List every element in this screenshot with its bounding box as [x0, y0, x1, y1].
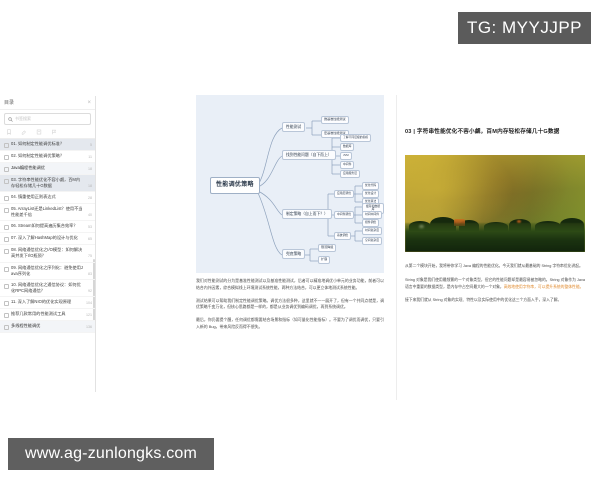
- toc-item-11[interactable]: 10. 网络通信优化之通信协议：如何优化RPC网络通信？92: [0, 280, 95, 297]
- mindmap-leaf-node[interactable]: 优化代码: [362, 182, 379, 190]
- mindmap-leaf-node[interactable]: 微基准性能测试: [321, 116, 349, 124]
- toc-item-label: 推荐几款常用的性能测试工具: [11, 311, 92, 317]
- bookmark-icon[interactable]: [6, 129, 12, 135]
- document-paragraph: 最后，你仍要提个醒，任何调优都需要结合场景和指标（如可量化性能指标）。不要为了调…: [196, 317, 384, 331]
- search-input[interactable]: 书签搜索: [4, 113, 91, 125]
- mindmap-branch-node[interactable]: 制定策略（自上而下？）: [282, 209, 332, 219]
- list-bullet-icon: [4, 301, 9, 306]
- document-page: 性能调优策略 性能测试 微基准性能测试 宏基准性能测试 找到性能问题（自下而上）…: [196, 95, 384, 369]
- note-icon[interactable]: [36, 129, 42, 135]
- mindmap-branch-node[interactable]: 兜底策略: [282, 249, 305, 259]
- highlight-icon[interactable]: [21, 129, 27, 135]
- toc-item-label: 01. 如何制定性能调优标准？: [11, 141, 92, 147]
- article-hero-image: [405, 155, 585, 252]
- toc-item-3[interactable]: Java编程性能调优18: [0, 163, 95, 175]
- mindmap-leaf-node[interactable]: 优化设计: [362, 190, 379, 198]
- document-paragraph: 测试结果可以帮助我们制定性能调优策略。调优方法很多种，这里就不一一展开了，但有一…: [196, 298, 384, 312]
- toc-item-label: 多线程性能调优: [11, 323, 92, 329]
- photo-foreground-ridge: [405, 223, 585, 252]
- toc-item-page-number: 18: [88, 184, 92, 189]
- mindmap-leaf-node[interactable]: 时间中间件: [362, 211, 382, 219]
- toc-item-label: 04. 慎重使用正则表达式: [11, 194, 92, 200]
- mindmap-leaf-node[interactable]: 空间复杂度: [362, 237, 382, 245]
- article-paragraph: String 对象是我们使用最频繁的一个对象类型，但它的性能问题却是最容易被忽略…: [405, 277, 585, 291]
- toc-item-page-number: 28: [88, 196, 92, 201]
- toc-item-page-number: 121: [86, 313, 92, 318]
- toc-item-13[interactable]: 推荐几款常用的性能测试工具121: [0, 309, 95, 321]
- toc-item-9[interactable]: 08. 网络通信优化之I/O模型：如何解决高并发下I/O瓶颈？75: [0, 245, 95, 262]
- mindmap-branch-node[interactable]: 找到性能问题（自下而上）: [282, 150, 336, 160]
- screenshot-root: TG: MYYJJPP 目录 × 书签搜索: [0, 0, 600, 480]
- mindmap-leaf-node[interactable]: 数据库: [340, 143, 354, 151]
- list-bullet-icon: [4, 313, 9, 318]
- close-icon[interactable]: ×: [87, 100, 91, 106]
- document-body: 我们对性能测试的分为是基准性能测试以及基准性能测试，后者可以精准地调优小单元的业…: [196, 278, 384, 337]
- mindmap-branch-node[interactable]: 性能测试: [282, 122, 305, 132]
- toc-item-label: 09. 网络通信优化之序列化：避免使用Java序列化: [11, 265, 92, 277]
- article-highlight-text: 高效地使用字符串，可以提升系统的整体性能。: [504, 285, 584, 289]
- toc-search-wrap: 书签搜索: [0, 110, 95, 127]
- toc-item-page-number: 40: [88, 213, 92, 218]
- toc-item-5[interactable]: 04. 慎重使用正则表达式28: [0, 192, 95, 204]
- toc-item-page-number: 53: [88, 225, 92, 230]
- mindmap-subbranch-node[interactable]: 中间件调优: [334, 211, 354, 219]
- toc-panel: 目录 × 书签搜索: [0, 96, 96, 392]
- toc-item-7[interactable]: 06. Stream如何提高遍历集合效率？53: [0, 221, 95, 233]
- list-bullet-icon: [4, 249, 9, 254]
- toc-item-label: 03. 字符串性能优化不容小觑，百M内存轻松存储几十G数据: [11, 177, 92, 189]
- search-placeholder-text: 书签搜索: [15, 116, 31, 122]
- document-paragraph: 我们对性能测试的分为是基准性能测试以及基准性能测试，后者可以精准地调优小单元的业…: [196, 278, 384, 292]
- toc-item-page-number: 65: [88, 237, 92, 242]
- list-bullet-icon: [4, 325, 9, 330]
- list-bullet-icon: [4, 155, 9, 160]
- article-paragraph: 接下来我们就从 String 对象的实现、特性以及实际使用中的优化这三个方面入手…: [405, 297, 585, 304]
- list-bullet-icon: [4, 208, 9, 213]
- toc-item-12[interactable]: 11. 深入了解NIO的优化实现原理104: [0, 297, 95, 309]
- toc-list[interactable]: 01. 如何制定性能调优标准？502. 如何制定性能调优策略？11Java编程性…: [0, 139, 95, 377]
- site-watermark: www.ag-zunlongks.com: [8, 438, 214, 470]
- mindmap-leaf-node[interactable]: 了解不同层级的指标: [340, 134, 371, 142]
- list-bullet-icon: [4, 179, 9, 184]
- list-bullet-icon: [4, 167, 9, 172]
- toc-item-label: 05. ArrayList还是LinkedList？使用不当性能差千倍: [11, 206, 92, 218]
- toc-item-label: 06. Stream如何提高遍历集合效率？: [11, 223, 92, 229]
- toc-item-page-number: 75: [88, 254, 92, 259]
- search-icon: [8, 117, 13, 122]
- mindmap-leaf-node[interactable]: 中间件: [340, 161, 354, 169]
- toc-item-4[interactable]: 03. 字符串性能优化不容小觑，百M内存轻松存储几十G数据18: [0, 175, 95, 192]
- list-bullet-icon: [4, 284, 9, 289]
- mindmap-subbranch-node[interactable]: 系统调优: [334, 232, 351, 240]
- mindmap-leaf-node[interactable]: 扩容: [318, 256, 330, 264]
- mindmap-leaf-node[interactable]: JVM: [340, 152, 352, 160]
- mindmap-root-node[interactable]: 性能调优策略: [210, 177, 260, 194]
- toc-item-label: 08. 网络通信优化之I/O模型：如何解决高并发下I/O瓶颈？: [11, 247, 92, 259]
- mindmap-leaf-node[interactable]: 限流降级: [318, 244, 336, 252]
- toc-item-label: 10. 网络通信优化之通信协议：如何优化RPC网络通信？: [11, 282, 92, 294]
- toc-item-page-number: 5: [90, 143, 92, 148]
- toc-item-1[interactable]: 01. 如何制定性能调优标准？5: [0, 139, 95, 151]
- toc-item-6[interactable]: 05. ArrayList还是LinkedList？使用不当性能差千倍40: [0, 204, 95, 221]
- toc-item-page-number: 18: [88, 167, 92, 172]
- flag-icon[interactable]: [51, 129, 57, 135]
- list-bullet-icon: [4, 267, 9, 272]
- toc-item-label: Java编程性能调优: [11, 165, 92, 171]
- toc-item-2[interactable]: 02. 如何制定性能调优策略？11: [0, 151, 95, 163]
- toc-item-page-number: 136: [86, 325, 92, 330]
- mindmap-canvas: 性能调优策略 性能测试 微基准性能测试 宏基准性能测试 找到性能问题（自下而上）…: [196, 95, 384, 273]
- toc-item-page-number: 92: [88, 289, 92, 294]
- toc-item-page-number: 11: [88, 155, 92, 160]
- mindmap-leaf-node[interactable]: 应用服务层: [340, 170, 360, 178]
- list-bullet-icon: [4, 143, 9, 148]
- mindmap-leaf-node[interactable]: 组件调优: [362, 219, 379, 227]
- toc-item-14[interactable]: 多线程性能调优136: [0, 321, 95, 333]
- toc-toolbar: [0, 127, 95, 139]
- article-title: 03 | 字符串性能优化不容小觑，百M内存轻松存储几十G数据: [405, 127, 560, 135]
- list-bullet-icon: [4, 225, 9, 230]
- mindmap-leaf-node[interactable]: 时间复杂度: [362, 227, 382, 235]
- toc-panel-title: 目录: [4, 99, 14, 106]
- toc-item-page-number: 104: [86, 301, 92, 306]
- toc-item-10[interactable]: 09. 网络通信优化之序列化：避免使用Java序列化83: [0, 263, 95, 280]
- toc-item-label: 11. 深入了解NIO的优化实现原理: [11, 299, 92, 305]
- list-bullet-icon: [4, 237, 9, 242]
- toc-header: 目录 ×: [0, 96, 95, 110]
- list-bullet-icon: [4, 196, 9, 201]
- article-paragraph: 从第二个模块开始，我将带你学习 Java 编程的性能优化。今天我们就从最基础的 …: [405, 263, 585, 270]
- tg-watermark-badge: TG: MYYJJPP: [458, 12, 591, 44]
- toc-item-label: 02. 如何制定性能调优策略？: [11, 153, 92, 159]
- toc-item-label: 07. 深入了解HashMap的设计与优化: [11, 235, 92, 241]
- toc-item-8[interactable]: 07. 深入了解HashMap的设计与优化65: [0, 233, 95, 245]
- article-panel: 03 | 字符串性能优化不容小觑，百M内存轻松存储几十G数据 从第二个模块开始，…: [396, 95, 597, 400]
- article-body: 从第二个模块开始，我将带你学习 Java 编程的性能优化。今天我们就从最基础的 …: [405, 263, 585, 311]
- toc-item-page-number: 83: [88, 272, 92, 277]
- mindmap-subbranch-node[interactable]: 应用层调优: [334, 190, 354, 198]
